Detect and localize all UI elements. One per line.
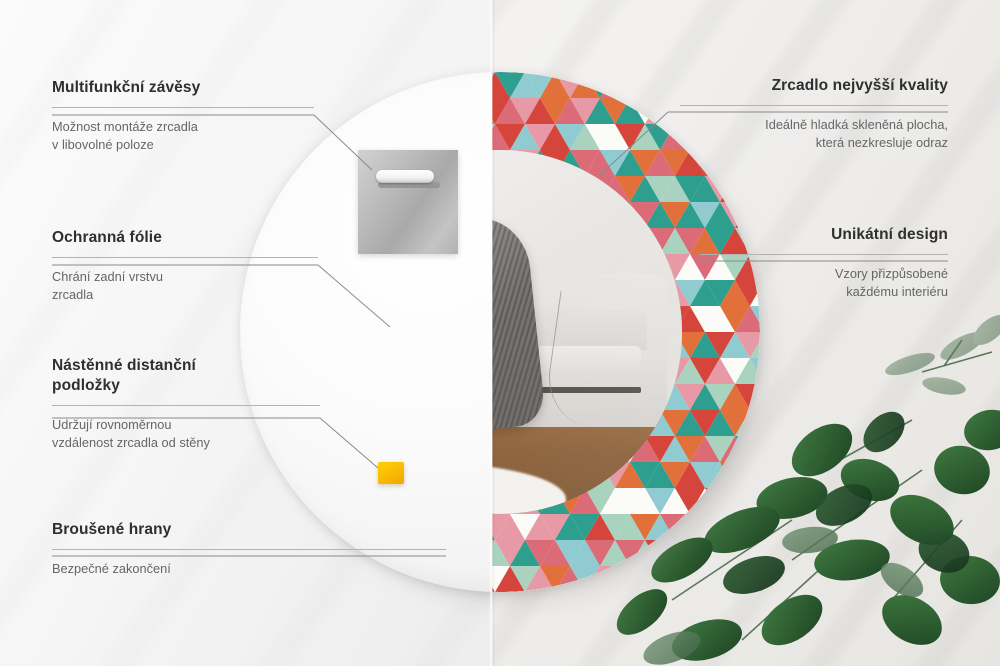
feature-zrcadlo-nejvyssi-kvality: Zrcadlo nejvyšší kvality Ideálně hladká … <box>680 76 948 153</box>
feature-rule <box>700 254 948 255</box>
feature-title: Nástěnné distanční podložky <box>52 356 320 396</box>
bracket-keyhole-slot <box>376 170 434 183</box>
feature-nastenne-distancni-podlozky: Nástěnné distanční podložky Udržují rovn… <box>52 356 320 453</box>
feature-title: Zrcadlo nejvyšší kvality <box>680 76 948 96</box>
feature-rule <box>52 405 320 406</box>
feature-title: Broušené hrany <box>52 520 446 540</box>
feature-description: Možnost montáže zrcadla v libovolné polo… <box>52 118 314 155</box>
feature-title: Multifunkční závěsy <box>52 78 314 98</box>
feature-description: Ideálně hladká skleněná plocha, která ne… <box>680 116 948 153</box>
infographic-stage: Multifunkční závěsy Možnost montáže zrca… <box>0 0 1000 666</box>
feature-description: Vzory přizpůsobené každému interiéru <box>700 265 948 302</box>
feature-description: Bezpečné zakončení <box>52 560 446 579</box>
feature-description: Chrání zadní vrstvu zrcadla <box>52 268 318 305</box>
feature-unikatni-design: Unikátní design Vzory přizpůsobené každé… <box>700 225 948 302</box>
feature-rule <box>52 257 318 258</box>
hanging-bracket <box>358 150 458 254</box>
feature-multifunkcni-zavesy: Multifunkční závěsy Možnost montáže zrca… <box>52 78 314 155</box>
feature-title: Unikátní design <box>700 225 948 245</box>
feature-description: Udržují rovnoměrnou vzdálenost zrcadla o… <box>52 416 320 453</box>
feature-rule <box>680 105 948 106</box>
feature-ochranna-folie: Ochranná fólie Chrání zadní vrstvu zrcad… <box>52 228 318 305</box>
feature-rule <box>52 107 314 108</box>
feature-title: Ochranná fólie <box>52 228 318 248</box>
feature-rule <box>52 549 446 550</box>
wall-spacer-pad <box>378 462 404 484</box>
feature-brousene-hrany: Broušené hrany Bezpečné zakončení <box>52 520 446 578</box>
